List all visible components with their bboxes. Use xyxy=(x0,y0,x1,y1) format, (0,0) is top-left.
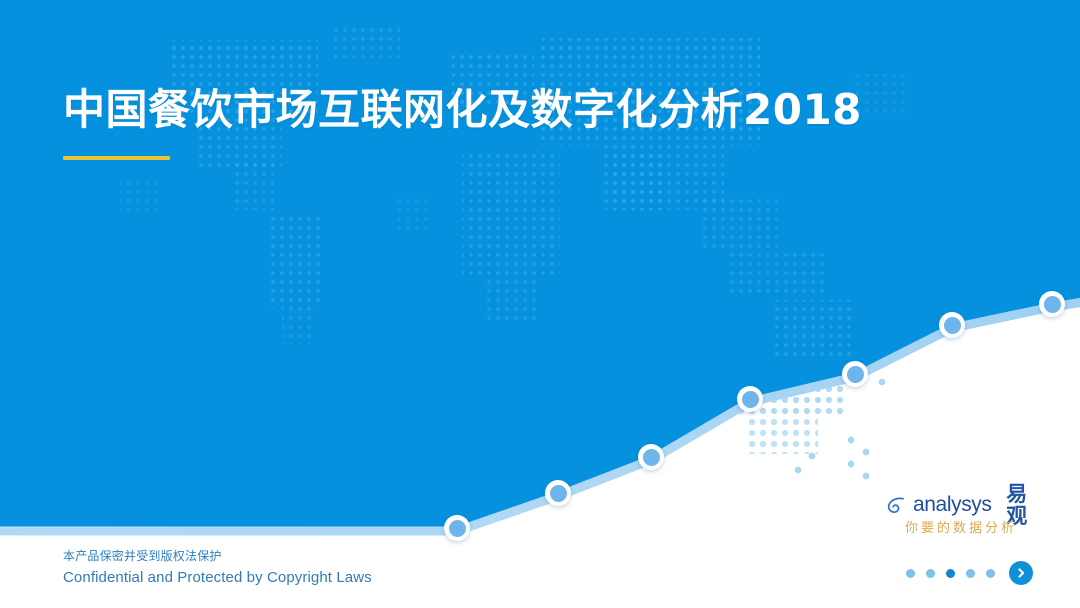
slide-pagination xyxy=(906,561,1033,585)
title-block: 中国餐饮市场互联网化及数字化分析2018 xyxy=(63,86,862,160)
title-underline-rule xyxy=(63,156,170,160)
logo-wordmark-row: analysys 易观 xyxy=(886,492,1036,518)
logo-english-text: analysys xyxy=(913,494,992,516)
copyright-notice-cn: 本产品保密并受到版权法保护 xyxy=(63,548,372,565)
chart-node xyxy=(444,515,470,541)
chart-node xyxy=(737,386,763,412)
page-title: 中国餐饮市场互联网化及数字化分析2018 xyxy=(63,86,862,134)
chart-node xyxy=(842,361,868,387)
pager-dot-1[interactable] xyxy=(906,569,915,578)
pager-dot-2[interactable] xyxy=(926,569,935,578)
pager-dot-5[interactable] xyxy=(986,569,995,578)
chart-node xyxy=(1039,291,1065,317)
left-divider-band xyxy=(0,528,448,535)
title-slide: 中国餐饮市场互联网化及数字化分析2018 本产品保密并受到版权法保护 Confi… xyxy=(0,0,1080,608)
copyright-notice-en: Confidential and Protected by Copyright … xyxy=(63,567,372,588)
next-slide-button[interactable] xyxy=(1009,561,1033,585)
analysys-swirl-icon xyxy=(886,495,906,515)
chart-node xyxy=(638,444,664,470)
chart-node xyxy=(939,312,965,338)
pager-dot-4[interactable] xyxy=(966,569,975,578)
analysys-logo: analysys 易观 你要的数据分析 xyxy=(886,492,1036,548)
chart-node xyxy=(545,480,571,506)
chevron-right-icon xyxy=(1015,567,1027,579)
logo-tagline: 你要的数据分析 xyxy=(886,521,1036,537)
copyright-notice: 本产品保密并受到版权法保护 Confidential and Protected… xyxy=(63,548,372,588)
pager-dot-3[interactable] xyxy=(946,569,955,578)
